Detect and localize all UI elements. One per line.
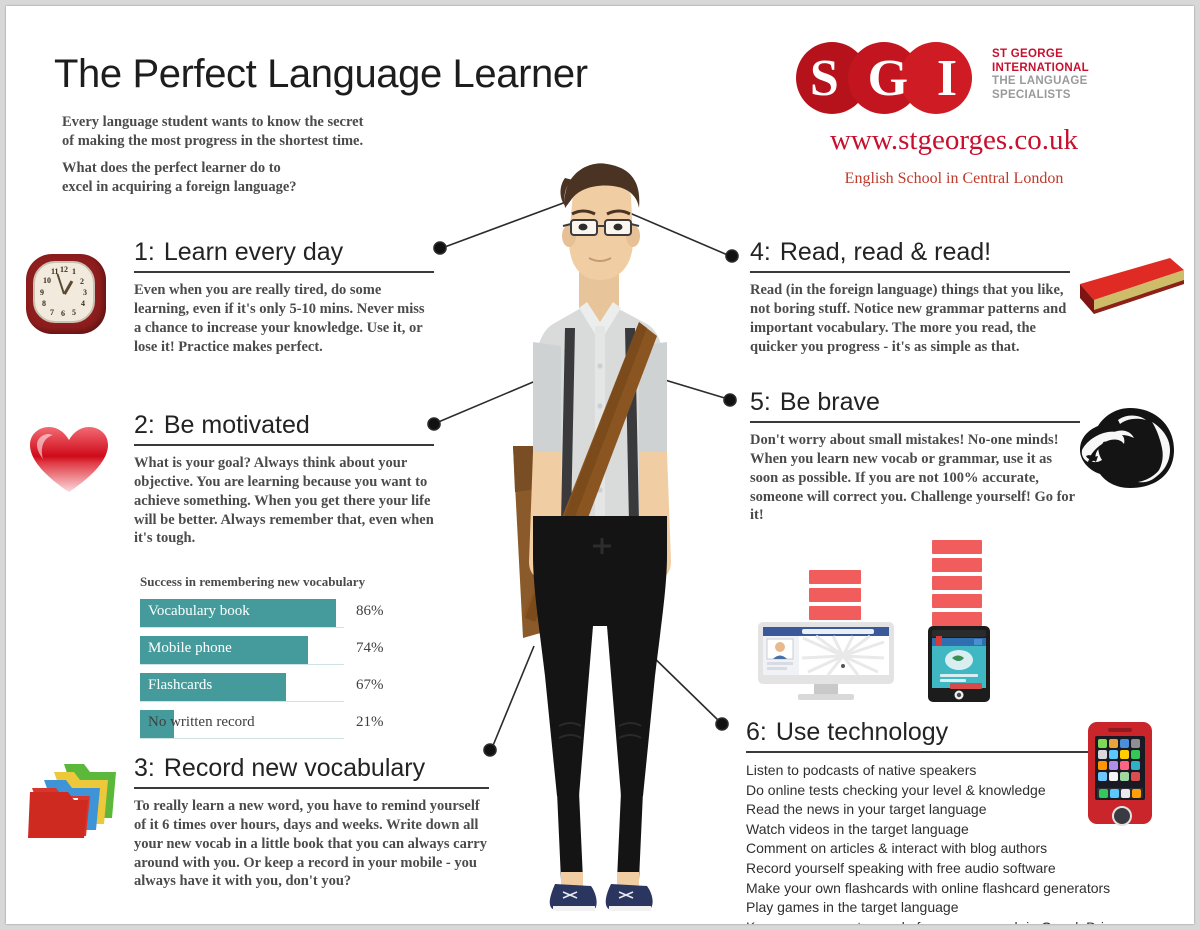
section-5-heading: 5:Be brave <box>750 388 1080 417</box>
section-4-rule <box>750 271 1070 273</box>
section-3-heading: 3:Record new vocabulary <box>134 754 489 783</box>
list-item: Read the news in your target language <box>746 800 1136 820</box>
stack-bar <box>932 540 982 554</box>
section-5-body: Don't worry about small mistakes! No-one… <box>750 431 1080 525</box>
list-item: Record yourself speaking with free audio… <box>746 859 1136 879</box>
tagline-line-4: SPECIALISTS <box>992 89 1112 103</box>
chart-bar-row: Vocabulary book 86% <box>140 599 412 630</box>
sgi-logo[interactable]: S G I ST GEORGE INTERNATIONAL THE LANGUA… <box>796 42 1116 202</box>
stack-bar <box>809 606 861 620</box>
vocabulary-retention-chart: Success in remembering new vocabulary Vo… <box>140 574 412 747</box>
intro-line-3: What does the perfect learner do to <box>62 159 462 178</box>
section-5-number: 5: <box>750 388 771 416</box>
infographic-poster: The Perfect Language Learner Every langu… <box>6 6 1194 924</box>
intro-paragraph-2: What does the perfect learner do to exce… <box>62 159 462 198</box>
smartphone-icon <box>1088 722 1154 826</box>
logo-letter-i: I <box>937 49 958 108</box>
list-item: Make your own flashcards with online fla… <box>746 879 1136 899</box>
section-1-rule <box>134 271 434 273</box>
school-subtitle: English School in Central London <box>796 170 1112 188</box>
tagline-line-3: THE LANGUAGE <box>992 75 1112 89</box>
desktop-monitor-icon <box>758 622 894 700</box>
alarm-clock-icon: 12 11 1 10 2 9 3 8 4 7 6 5 <box>20 250 112 338</box>
intro-paragraph-1: Every language student wants to know the… <box>62 113 462 152</box>
tagline-line-2: INTERNATIONAL <box>992 62 1112 76</box>
bar-label-2: Flashcards <box>148 677 212 694</box>
red-book-icon <box>1074 254 1186 324</box>
section-4-heading: 4:Read, read & read! <box>750 238 1070 267</box>
bar-label-1: Mobile phone <box>148 640 232 657</box>
section-3-rule <box>134 787 489 789</box>
logo-letter-g: G <box>868 49 909 108</box>
intro-line-1: Every language student wants to know the… <box>62 113 462 132</box>
chart-bar-row: Mobile phone 74% <box>140 636 412 667</box>
section-1-title: Learn every day <box>164 238 343 266</box>
stack-bar <box>809 570 861 584</box>
list-item: Listen to podcasts of native speakers <box>746 761 1136 781</box>
section-3: 3:Record new vocabulary To really learn … <box>134 754 489 891</box>
sgi-logo-mark: S G I ST GEORGE INTERNATIONAL THE LANGUA… <box>796 42 1006 114</box>
list-item: Watch videos in the target language <box>746 820 1136 840</box>
intro-line-2: of making the most progress in the short… <box>62 132 462 151</box>
website-url[interactable]: www.stgeorges.co.uk <box>796 124 1112 157</box>
list-item: Play games in the target language <box>746 898 1136 918</box>
section-4-body: Read (in the foreign language) things th… <box>750 281 1070 356</box>
section-1-heading: 1:Learn every day <box>134 238 434 267</box>
section-2-number: 2: <box>134 411 155 439</box>
stack-bar <box>932 594 982 608</box>
chart-bar-row: Flashcards 67% <box>140 673 412 704</box>
bar-label-3: No written record <box>148 714 255 731</box>
section-5: 5:Be brave Don't worry about small mista… <box>750 388 1080 525</box>
lion-head-icon <box>1068 404 1186 492</box>
trousers <box>533 516 667 796</box>
bar-label-0: Vocabulary book <box>148 603 250 620</box>
tagline-line-1: ST GEORGE <box>992 48 1112 62</box>
section-6-rule <box>746 751 1136 753</box>
bar-value-0: 86% <box>356 603 384 620</box>
section-3-body: To really learn a new word, you have to … <box>134 797 489 891</box>
section-3-number: 3: <box>134 754 155 782</box>
stack-bar <box>932 576 982 590</box>
language-learner-character <box>461 156 741 911</box>
technology-illustration <box>754 530 994 702</box>
section-2-heading: 2:Be motivated <box>134 411 434 440</box>
section-4: 4:Read, read & read! Read (in the foreig… <box>750 238 1070 356</box>
section-6: 6:Use technology Listen to podcasts of n… <box>746 718 1136 924</box>
heart-icon <box>26 424 112 496</box>
section-6-list: Listen to podcasts of native speakers Do… <box>746 761 1136 924</box>
section-3-title: Record new vocabulary <box>164 754 425 782</box>
list-item: Keep a permanent record of your new voca… <box>746 918 1136 924</box>
file-folders-icon <box>24 758 122 842</box>
list-item: Comment on articles & interact with blog… <box>746 839 1136 859</box>
section-6-title: Use technology <box>776 718 948 746</box>
section-6-number: 6: <box>746 718 767 746</box>
section-4-title: Read, read & read! <box>780 238 991 266</box>
section-5-title: Be brave <box>780 388 880 416</box>
list-item: Do online tests checking your level & kn… <box>746 781 1136 801</box>
bar-value-2: 67% <box>356 677 384 694</box>
section-2: 2:Be motivated What is your goal? Always… <box>134 411 434 548</box>
section-2-title: Be motivated <box>164 411 310 439</box>
logo-letter-s: S <box>810 49 840 108</box>
bar-value-3: 21% <box>356 714 384 731</box>
section-1: 1:Learn every day Even when you are real… <box>134 238 434 356</box>
section-2-body: What is your goal? Always think about yo… <box>134 454 434 548</box>
stack-bar <box>809 588 861 602</box>
page-title: The Perfect Language Learner <box>54 52 714 97</box>
logo-letters: S G I <box>796 42 972 114</box>
stack-bar <box>932 612 982 626</box>
section-6-heading: 6:Use technology <box>746 718 1136 747</box>
bar-value-1: 74% <box>356 640 384 657</box>
section-2-rule <box>134 444 434 446</box>
chart-bar-row: No written record 21% <box>140 710 412 741</box>
section-5-rule <box>750 421 1080 423</box>
stack-bar <box>932 558 982 572</box>
section-4-number: 4: <box>750 238 771 266</box>
intro-line-4: excel in acquiring a foreign language? <box>62 178 462 197</box>
section-1-body: Even when you are really tired, do some … <box>134 281 434 356</box>
chart-title: Success in remembering new vocabulary <box>140 574 412 590</box>
tablet-icon <box>928 626 990 702</box>
section-1-number: 1: <box>134 238 155 266</box>
logo-tagline: ST GEORGE INTERNATIONAL THE LANGUAGE SPE… <box>992 48 1112 102</box>
